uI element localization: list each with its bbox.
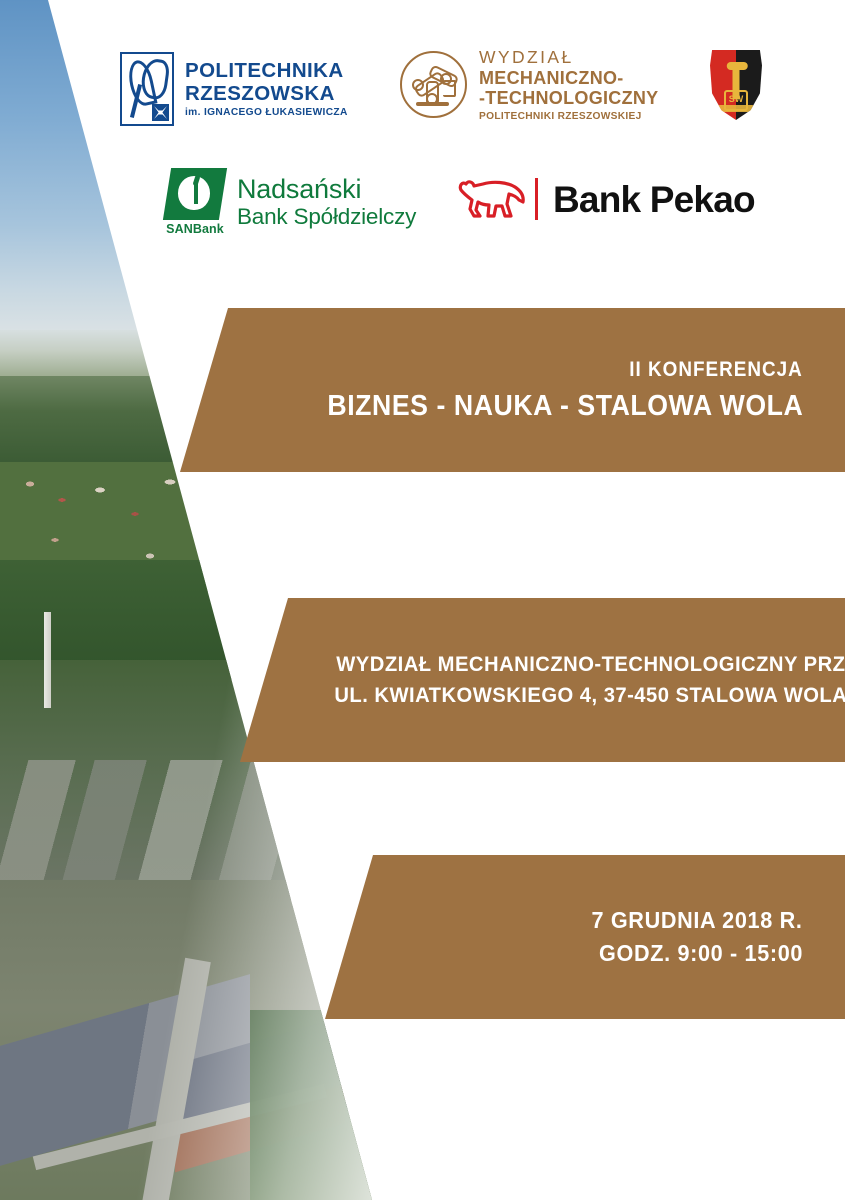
prz-line-2: RZESZOWSKA: [185, 83, 348, 106]
wmt-line-2: MECHANICZNO-: [479, 68, 659, 89]
sponsor-logo-row-top: POLITECHNIKA RZESZOWSKA im. IGNACEGO ŁUK…: [120, 44, 820, 144]
sanbank-line-2: Bank Spółdzielczy: [237, 204, 416, 230]
conference-title-band: II KONFERENCJA BIZNES - NAUKA - STALOWA …: [180, 308, 845, 472]
apple-leaf-icon: SANBank: [165, 168, 227, 236]
pekao-wordmark: Bank Pekao: [553, 181, 755, 218]
venue-line-1: WYDZIAŁ MECHANICZNO-TECHNOLOGICZNY PRZ: [336, 649, 845, 680]
prz-line-1: POLITECHNIKA: [185, 60, 348, 83]
maltese-cross-icon: [152, 104, 169, 121]
prz-monogram-icon: [120, 52, 174, 126]
wmt-line-4: POLITECHNIKI RZESZOWSKIEJ: [479, 111, 659, 122]
sanbank-line-1: Nadsański: [237, 174, 416, 205]
date-line-1: 7 GRUDNIA 2018 R.: [592, 904, 803, 937]
prz-line-3: im. IGNACEGO ŁUKASIEWICZA: [185, 107, 348, 118]
logo-shield-emblem: SW: [710, 50, 762, 120]
date-band: 7 GRUDNIA 2018 R. GODZ. 9:00 - 15:00: [325, 855, 845, 1019]
conference-headline: BIZNES - NAUKA - STALOWA WOLA: [327, 390, 803, 423]
logo-politechnika-rzeszowska: POLITECHNIKA RZESZOWSKA im. IGNACEGO ŁUK…: [120, 52, 348, 126]
sponsor-logo-row-bottom: SANBank Nadsański Bank Spółdzielczy Bank…: [165, 168, 805, 248]
robot-arm-icon: [400, 51, 467, 118]
wmt-line-3: -TECHNOLOGICZNY: [479, 88, 659, 109]
shield-hammer-icon: SW: [710, 50, 762, 120]
logo-bank-pekao: Bank Pekao: [455, 176, 755, 222]
logo-wydzial-mechaniczno-technologiczny: WYDZIAŁ MECHANICZNO- -TECHNOLOGICZNY POL…: [400, 48, 659, 122]
pekao-divider: [535, 178, 538, 220]
bison-icon: [455, 176, 529, 222]
date-line-2: GODZ. 9:00 - 15:00: [599, 937, 803, 970]
wmt-line-1: WYDZIAŁ: [479, 48, 659, 68]
venue-band: WYDZIAŁ MECHANICZNO-TECHNOLOGICZNY PRZ U…: [240, 598, 845, 762]
sanbank-mark-label: SANBank: [165, 222, 225, 236]
logo-nadsanski-bank-spoldzielczy: SANBank Nadsański Bank Spółdzielczy: [165, 168, 416, 236]
conference-kicker: II KONFERENCJA: [630, 357, 803, 383]
venue-line-2: UL. KWIATKOWSKIEGO 4, 37-450 STALOWA WOL…: [334, 680, 845, 711]
